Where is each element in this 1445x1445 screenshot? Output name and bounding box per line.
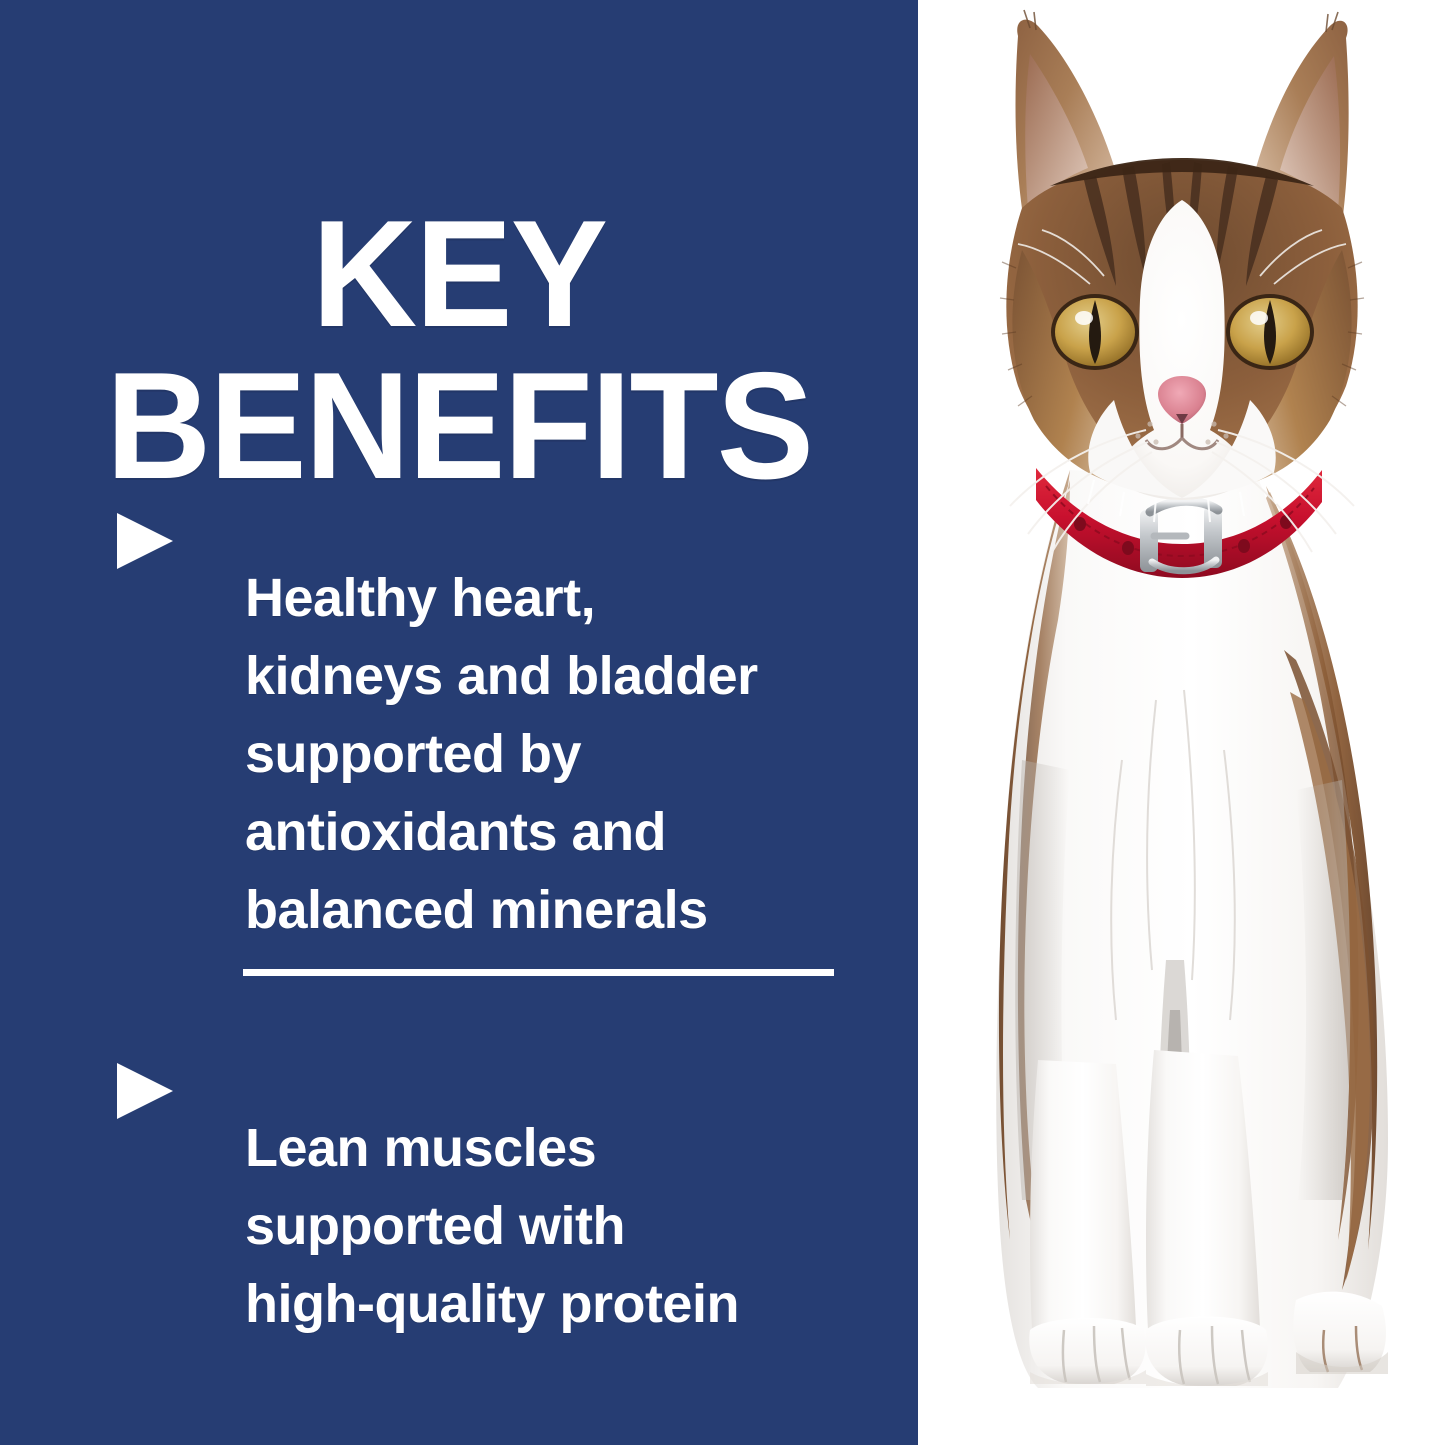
play-triangle-icon — [113, 1055, 177, 1121]
cat-eye-right — [1226, 294, 1314, 370]
cat-photo-panel — [918, 0, 1445, 1445]
page-title: KEY BENEFITS — [18, 198, 899, 502]
play-triangle-icon — [113, 505, 177, 571]
benefit-item-text: Healthy heart, kidneys and bladder suppo… — [245, 559, 873, 949]
benefit-item-text: Lean muscles supported with high-quality… — [245, 1109, 873, 1343]
benefits-panel: KEY BENEFITS Healthy heart, kidneys and … — [0, 0, 918, 1445]
cat-photo-image — [918, 0, 1445, 1445]
key-benefits-product-panel: KEY BENEFITS Healthy heart, kidneys and … — [0, 0, 1445, 1445]
benefit-item: Healthy heart, kidneys and bladder suppo… — [113, 505, 873, 1003]
benefit-item: Lean muscles supported with high-quality… — [113, 1055, 873, 1397]
section-divider — [243, 969, 834, 976]
cat-eye-left — [1051, 294, 1139, 370]
